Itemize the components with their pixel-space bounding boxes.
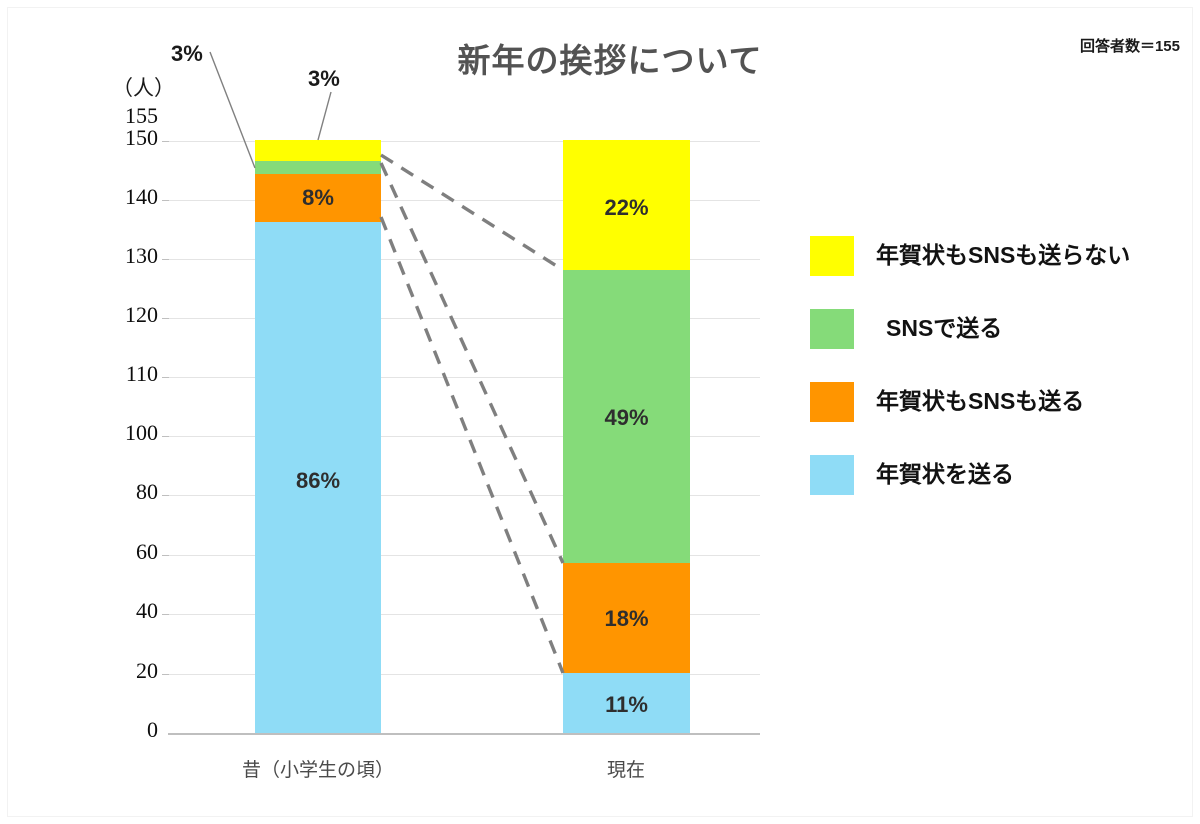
legend-swatch-icon-nenga xyxy=(810,455,854,495)
ytick-label-120: 120 xyxy=(0,302,158,328)
legend-label-nenga: 年賀状を送る xyxy=(876,453,1014,495)
ytick-mark-100 xyxy=(162,436,169,437)
category-label-past: 昔（小学生の頃） xyxy=(228,755,408,782)
ytick-label-40: 40 xyxy=(0,598,158,624)
bar-right-label-none: 22% xyxy=(563,197,690,219)
ytick-label-0: 0 xyxy=(0,717,158,743)
ytick-mark-110 xyxy=(162,377,169,378)
legend-label-none: 年賀状もSNSも送らない xyxy=(876,234,1130,276)
bar-left-label-both: 8% xyxy=(255,187,381,209)
ytick-mark-140 xyxy=(162,200,169,201)
ytick-mark-40 xyxy=(162,614,169,615)
bar-left-segment-none[interactable] xyxy=(255,140,381,161)
legend-label-both: 年賀状もSNSも送る xyxy=(876,380,1084,422)
legend-swatch-icon-none xyxy=(810,236,854,276)
ytick-mark-80 xyxy=(162,495,169,496)
ytick-label-140: 140 xyxy=(0,184,158,210)
ytick-label-150: 150 xyxy=(0,125,158,151)
ytick-label-110: 110 xyxy=(0,361,158,387)
ytick-label-80: 80 xyxy=(0,479,158,505)
bar-left-segment-nenga[interactable]: 86% xyxy=(255,222,381,733)
chart-legend: 年賀状もSNSも送らない SNSで送る 年賀状もSNSも送る 年賀状を送る xyxy=(810,230,1180,522)
callout-label-sns-past: 3% xyxy=(171,41,203,67)
chart-page: 新年の挨拶について 回答者数＝155 （人） 155 150 xyxy=(0,0,1200,824)
bar-right-segment-nenga[interactable]: 11% xyxy=(563,673,690,733)
bar-left-segment-sns[interactable] xyxy=(255,161,381,174)
ytick-mark-120 xyxy=(162,318,169,319)
connector-line-none xyxy=(381,155,563,270)
legend-item-nenga[interactable]: 年賀状を送る xyxy=(810,449,1180,522)
bar-right-segment-none[interactable]: 22% xyxy=(563,140,690,270)
connector-line-sns xyxy=(381,163,563,563)
leader-line-sns-past xyxy=(210,52,255,168)
bar-right-segment-both[interactable]: 18% xyxy=(563,563,690,673)
bar-right-label-both: 18% xyxy=(563,608,690,630)
legend-swatch-icon-both xyxy=(810,382,854,422)
connector-line-both xyxy=(381,217,563,673)
ytick-label-60: 60 xyxy=(0,539,158,565)
legend-label-sns: SNSで送る xyxy=(886,307,1002,349)
legend-item-sns[interactable]: SNSで送る xyxy=(810,303,1180,376)
ytick-label-100: 100 xyxy=(0,420,158,446)
legend-item-none[interactable]: 年賀状もSNSも送らない xyxy=(810,230,1180,303)
callout-label-none-past: 3% xyxy=(308,66,340,92)
bar-right-label-sns: 49% xyxy=(563,407,690,429)
bar-left-label-nenga: 86% xyxy=(255,470,381,492)
ytick-mark-60 xyxy=(162,555,169,556)
bar-right-segment-sns[interactable]: 49% xyxy=(563,270,690,563)
category-label-present: 現在 xyxy=(536,755,716,782)
legend-item-both[interactable]: 年賀状もSNSも送る xyxy=(810,376,1180,449)
bar-right-label-nenga: 11% xyxy=(563,694,690,716)
ytick-mark-150 xyxy=(162,141,169,142)
ytick-label-20: 20 xyxy=(0,658,158,684)
ytick-mark-20 xyxy=(162,674,169,675)
ytick-mark-130 xyxy=(162,259,169,260)
ytick-label-130: 130 xyxy=(0,243,158,269)
leader-line-none-past xyxy=(318,92,331,140)
legend-swatch-icon-sns xyxy=(810,309,854,349)
bar-left-segment-both[interactable]: 8% xyxy=(255,174,381,222)
x-axis-line xyxy=(168,733,760,735)
